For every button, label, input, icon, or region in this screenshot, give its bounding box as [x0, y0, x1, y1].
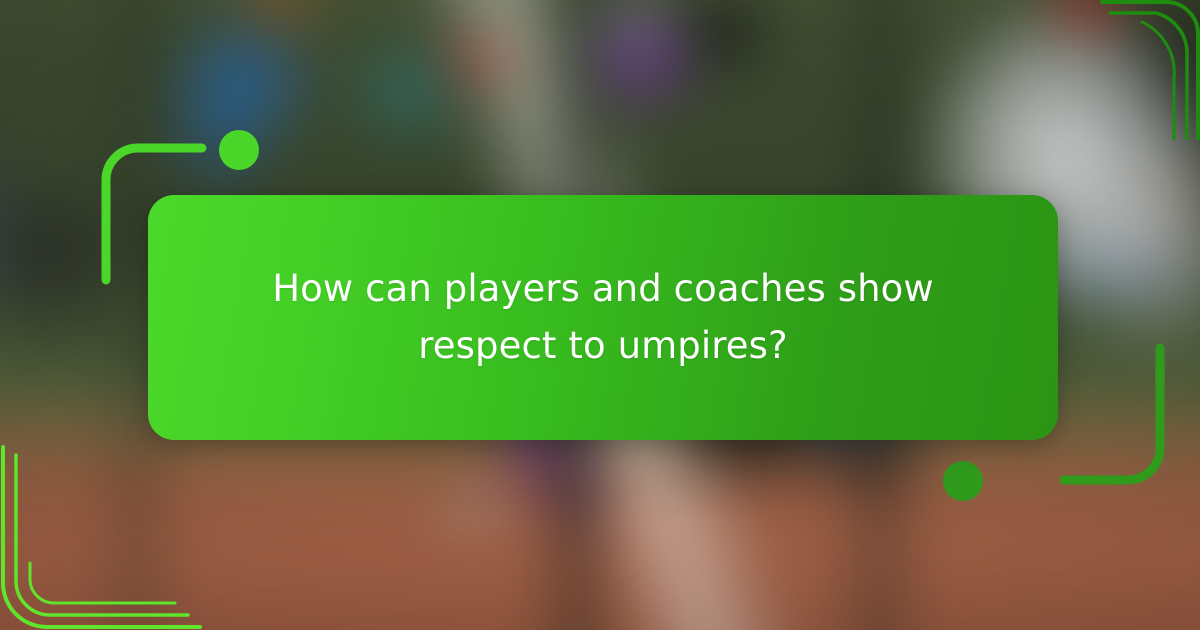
dot-accent-top-left [219, 130, 259, 170]
dot-accent-bottom-right [943, 461, 983, 501]
quote-card-canvas: How can players and coaches show respect… [0, 0, 1200, 630]
quote-text: How can players and coaches show respect… [223, 261, 983, 373]
quote-card: How can players and coaches show respect… [148, 195, 1058, 440]
